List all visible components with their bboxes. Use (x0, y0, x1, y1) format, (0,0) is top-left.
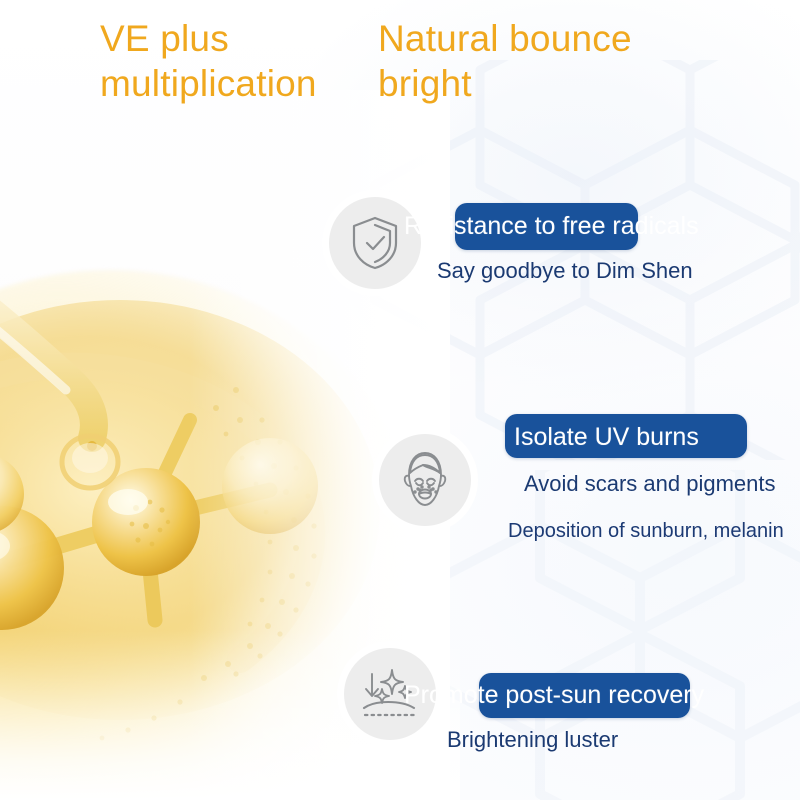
feature-subtitle-recovery: Brightening luster (447, 729, 618, 751)
feature-subtitle-uv-2: Deposition of sunburn, melanin (508, 521, 784, 541)
promo-banner: VE plusNatural bounce multiplicationbrig… (0, 0, 800, 800)
face-spots-icon (379, 434, 471, 526)
feature-badge-label-uv: Isolate UV burns (514, 425, 699, 450)
feature-subtitle-uv-1: Avoid scars and pigments (524, 473, 776, 495)
feature-badge-label-recovery: Promote post-sun recovery (404, 683, 704, 708)
feature-item-post-sun-recovery: Promote post-sun recovery Brightening lu… (0, 0, 800, 300)
